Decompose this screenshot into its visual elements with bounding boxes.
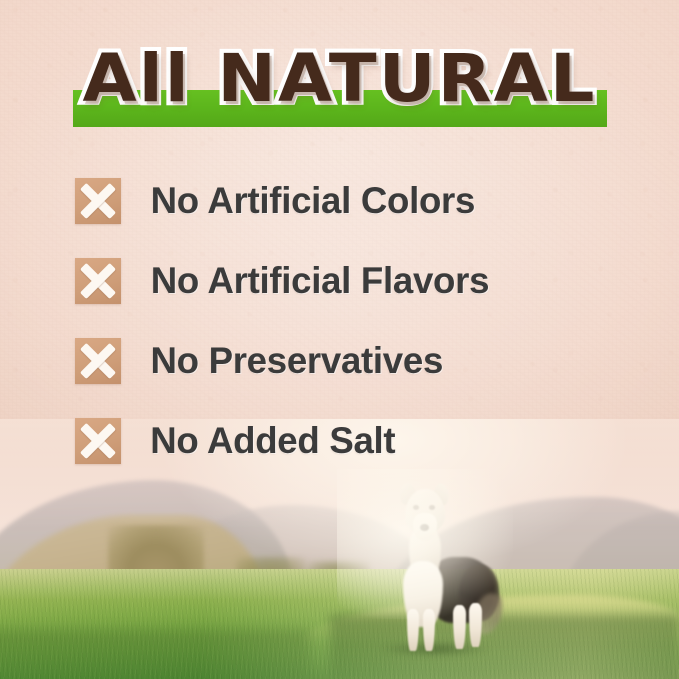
dog-eye xyxy=(429,505,435,510)
dog-eye xyxy=(413,505,419,510)
dog-leg xyxy=(407,609,419,651)
x-mark-icon xyxy=(75,178,121,224)
list-item-label: No Artificial Colors xyxy=(151,180,475,222)
list-item: No Artificial Colors xyxy=(75,176,635,226)
list-item: No Preservatives xyxy=(75,336,635,386)
dog-leg xyxy=(469,603,482,647)
dog-leg xyxy=(453,605,466,649)
border-collie-dog xyxy=(355,483,495,651)
page-title: All NATURAL xyxy=(82,46,596,112)
list-item: No Added Salt xyxy=(75,416,635,466)
list-item-label: No Artificial Flavors xyxy=(151,260,489,302)
list-item: No Artificial Flavors xyxy=(75,256,635,306)
foreground-shadow xyxy=(0,629,310,679)
list-item-label: No Preservatives xyxy=(150,340,443,382)
x-mark-icon xyxy=(75,258,121,304)
dog-nose xyxy=(420,524,429,531)
product-feature-poster: All NATURAL No Artificial Colors No Arti… xyxy=(0,0,679,679)
x-mark-icon xyxy=(75,338,121,384)
title-container: All NATURAL xyxy=(0,46,679,112)
x-mark-icon xyxy=(75,418,121,464)
list-item-label: No Added Salt xyxy=(150,420,395,462)
dog-leg xyxy=(423,609,435,651)
feature-list: No Artificial Colors No Artificial Flavo… xyxy=(75,176,635,496)
